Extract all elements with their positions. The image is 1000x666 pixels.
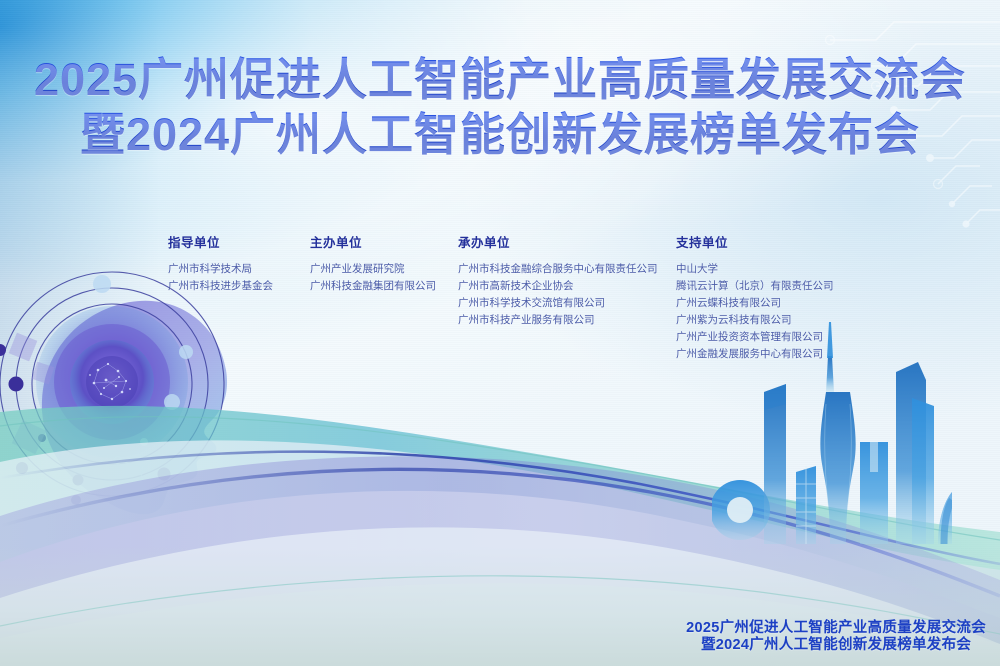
watermark-line-2: 暨2024广州人工智能创新发展榜单发布会 [686,637,986,654]
org-header-support: 支持单位 [676,232,868,251]
org-item: 广州市科学技术局 [168,261,310,278]
title-line-2: 暨2024广州人工智能创新发展榜单发布会 [0,111,1000,160]
org-item: 广州市科技产业服务有限公司 [458,312,676,329]
org-item: 广州产业发展研究院 [310,261,458,278]
org-item: 广州金融发展服务中心有限公司 [676,346,868,363]
org-item: 广州科技金融集团有限公司 [310,278,458,295]
watermark-title: 2025广州促进人工智能产业高质量发展交流会 暨2024广州人工智能创新发展榜单… [686,620,986,654]
org-header-organizer: 承办单位 [458,232,676,251]
title-line-1: 2025广州促进人工智能产业高质量发展交流会 [0,56,1000,105]
org-item: 广州市高新技术企业协会 [458,278,676,295]
conference-backdrop: 2025广州促进人工智能产业高质量发展交流会 暨2024广州人工智能创新发展榜单… [0,0,1000,666]
org-item: 广州市科技金融综合服务中心有限责任公司 [458,261,676,278]
organization-columns: 指导单位 广州市科学技术局 广州市科技进步基金会 主办单位 广州产业发展研究院 … [168,232,868,363]
org-header-host: 主办单位 [310,232,458,251]
org-item: 广州市科学技术交流馆有限公司 [458,295,676,312]
org-item: 腾讯云计算（北京）有限责任公司 [676,278,868,295]
org-column-organizer: 承办单位 广州市科技金融综合服务中心有限责任公司 广州市高新技术企业协会 广州市… [458,232,676,329]
org-column-guidance: 指导单位 广州市科学技术局 广州市科技进步基金会 [168,232,310,295]
org-header-guidance: 指导单位 [168,232,310,251]
org-column-support: 支持单位 中山大学 腾讯云计算（北京）有限责任公司 广州云蝶科技有限公司 广州紫… [676,232,868,363]
org-item: 广州产业投资资本管理有限公司 [676,329,868,346]
watermark-line-1: 2025广州促进人工智能产业高质量发展交流会 [686,620,986,637]
org-item: 广州市科技进步基金会 [168,278,310,295]
page-title: 2025广州促进人工智能产业高质量发展交流会 暨2024广州人工智能创新发展榜单… [0,56,1000,159]
org-item: 中山大学 [676,261,868,278]
org-item: 广州云蝶科技有限公司 [676,295,868,312]
org-item: 广州紫为云科技有限公司 [676,312,868,329]
org-column-host: 主办单位 广州产业发展研究院 广州科技金融集团有限公司 [310,232,458,295]
